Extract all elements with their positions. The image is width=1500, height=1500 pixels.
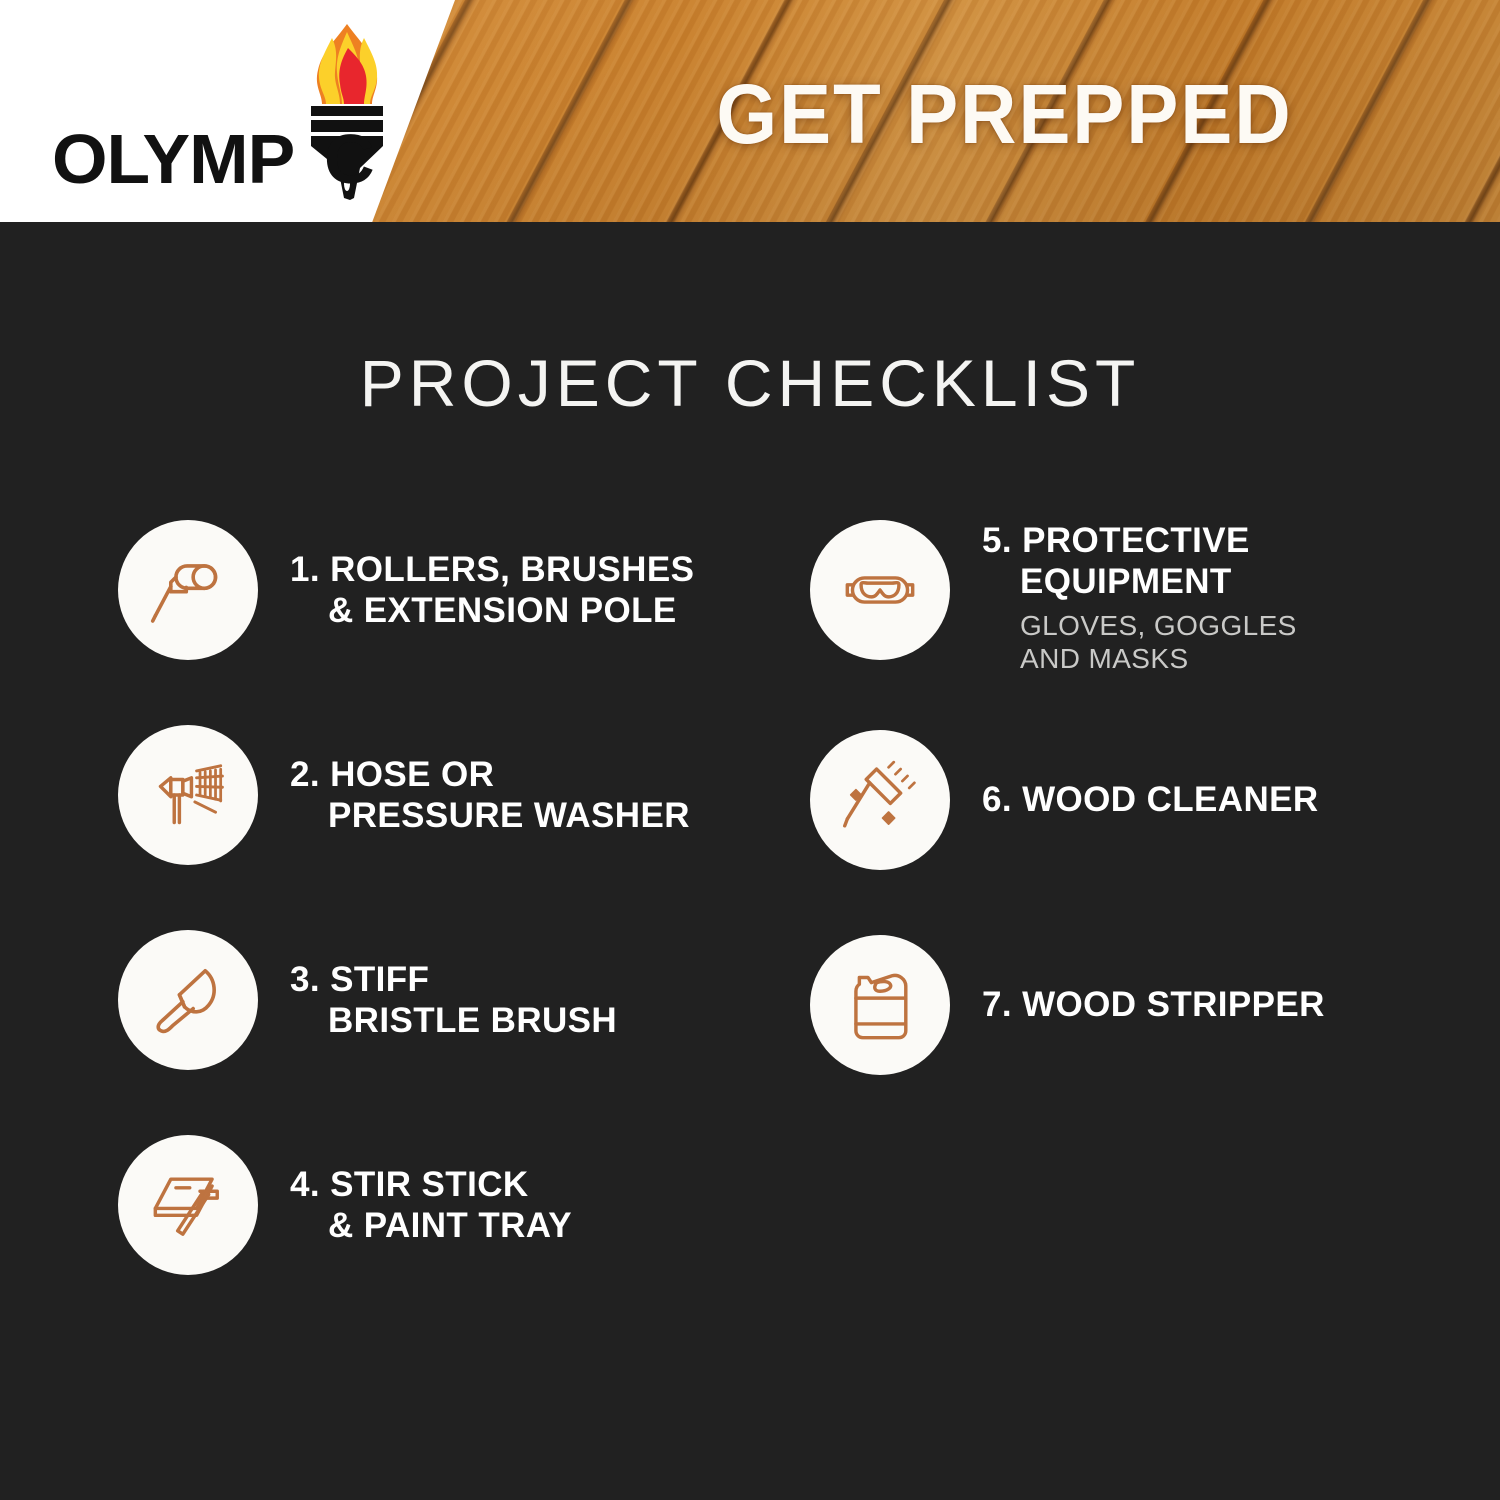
item-title-line2: PRESSURE WASHER bbox=[290, 795, 818, 836]
icon-circle bbox=[118, 520, 258, 660]
item-title: 1. ROLLERS, BRUSHES & EXTENSION POLE bbox=[290, 549, 818, 632]
item-title-line1: 3. STIFF bbox=[290, 960, 429, 999]
item-text: 2. HOSE OR PRESSURE WASHER bbox=[258, 725, 818, 865]
item-title-line2: & PAINT TRAY bbox=[290, 1205, 818, 1246]
item-title-line2: & EXTENSION POLE bbox=[290, 590, 818, 631]
checklist-right-column: 5. PROTECTIVE EQUIPMENT GLOVES, GOGGLES … bbox=[810, 520, 1500, 1140]
checklist-left-column: 1. ROLLERS, BRUSHES & EXTENSION POLE bbox=[118, 520, 818, 1340]
item-title: 6. WOOD CLEANER bbox=[982, 779, 1500, 820]
item-text: 6. WOOD CLEANER bbox=[950, 730, 1500, 870]
paint-roller-icon bbox=[145, 547, 231, 633]
item-title: 3. STIFF BRISTLE BRUSH bbox=[290, 959, 818, 1042]
page-title: PROJECT CHECKLIST bbox=[0, 345, 1500, 421]
icon-circle bbox=[118, 725, 258, 865]
header-title-text: GET PREPPED bbox=[716, 66, 1292, 163]
safety-goggles-icon bbox=[837, 547, 923, 633]
checklist-item-stiff-bristle-brush[interactable]: 3. STIFF BRISTLE BRUSH bbox=[118, 930, 818, 1135]
item-title: 4. STIR STICK & PAINT TRAY bbox=[290, 1164, 818, 1247]
pressure-washer-nozzle-icon bbox=[145, 752, 231, 838]
item-subtitle-line2: AND MASKS bbox=[1020, 643, 1189, 674]
paint-tray-stir-stick-icon bbox=[145, 1162, 231, 1248]
item-title-line1: 7. WOOD STRIPPER bbox=[982, 985, 1325, 1024]
item-title: 7. WOOD STRIPPER bbox=[982, 984, 1500, 1025]
icon-circle bbox=[810, 730, 950, 870]
item-title-line1: 5. PROTECTIVE bbox=[982, 521, 1250, 560]
scrub-brush-sparkle-icon bbox=[837, 757, 923, 843]
item-subtitle-line1: GLOVES, GOGGLES bbox=[1020, 610, 1297, 641]
item-text: 7. WOOD STRIPPER bbox=[950, 935, 1500, 1075]
item-title: 2. HOSE OR PRESSURE WASHER bbox=[290, 754, 818, 837]
item-title-line1: 2. HOSE OR bbox=[290, 755, 494, 794]
item-title: 5. PROTECTIVE EQUIPMENT bbox=[982, 520, 1500, 603]
stiff-bristle-brush-icon bbox=[145, 957, 231, 1043]
header-title: GET PREPPED bbox=[0, 0, 1500, 228]
checklist-item-rollers-brushes[interactable]: 1. ROLLERS, BRUSHES & EXTENSION POLE bbox=[118, 520, 818, 725]
item-title-line2: BRISTLE BRUSH bbox=[290, 1000, 818, 1041]
checklist-item-wood-cleaner[interactable]: 6. WOOD CLEANER bbox=[810, 730, 1500, 935]
icon-circle bbox=[810, 935, 950, 1075]
checklist-item-protective-equipment[interactable]: 5. PROTECTIVE EQUIPMENT GLOVES, GOGGLES … bbox=[810, 520, 1500, 730]
item-text: 3. STIFF BRISTLE BRUSH bbox=[258, 930, 818, 1070]
item-title-line1: 6. WOOD CLEANER bbox=[982, 780, 1319, 819]
item-text: 4. STIR STICK & PAINT TRAY bbox=[258, 1135, 818, 1275]
item-text: 5. PROTECTIVE EQUIPMENT GLOVES, GOGGLES … bbox=[950, 520, 1500, 676]
item-title-line1: 4. STIR STICK bbox=[290, 1165, 529, 1204]
icon-circle bbox=[118, 1135, 258, 1275]
header-bottom-rule bbox=[0, 222, 1500, 228]
checklist-item-hose-pressure-washer[interactable]: 2. HOSE OR PRESSURE WASHER bbox=[118, 725, 818, 930]
item-title-line2: EQUIPMENT bbox=[982, 561, 1500, 602]
icon-circle bbox=[810, 520, 950, 660]
page-title-text: PROJECT CHECKLIST bbox=[360, 346, 1141, 420]
checklist: 1. ROLLERS, BRUSHES & EXTENSION POLE bbox=[0, 520, 1500, 1380]
item-text: 1. ROLLERS, BRUSHES & EXTENSION POLE bbox=[258, 520, 818, 660]
item-title-line1: 1. ROLLERS, BRUSHES bbox=[290, 550, 694, 589]
icon-circle bbox=[118, 930, 258, 1070]
checklist-item-stir-stick-paint-tray[interactable]: 4. STIR STICK & PAINT TRAY bbox=[118, 1135, 818, 1340]
chemical-jug-icon bbox=[837, 962, 923, 1048]
infographic-page: OLYMP C ® GET PREPPED PROJECT CHECKLIST bbox=[0, 0, 1500, 1500]
item-subtitle: GLOVES, GOGGLES AND MASKS bbox=[982, 609, 1500, 676]
header-banner: OLYMP C ® GET PREPPED bbox=[0, 0, 1500, 228]
checklist-item-wood-stripper[interactable]: 7. WOOD STRIPPER bbox=[810, 935, 1500, 1140]
